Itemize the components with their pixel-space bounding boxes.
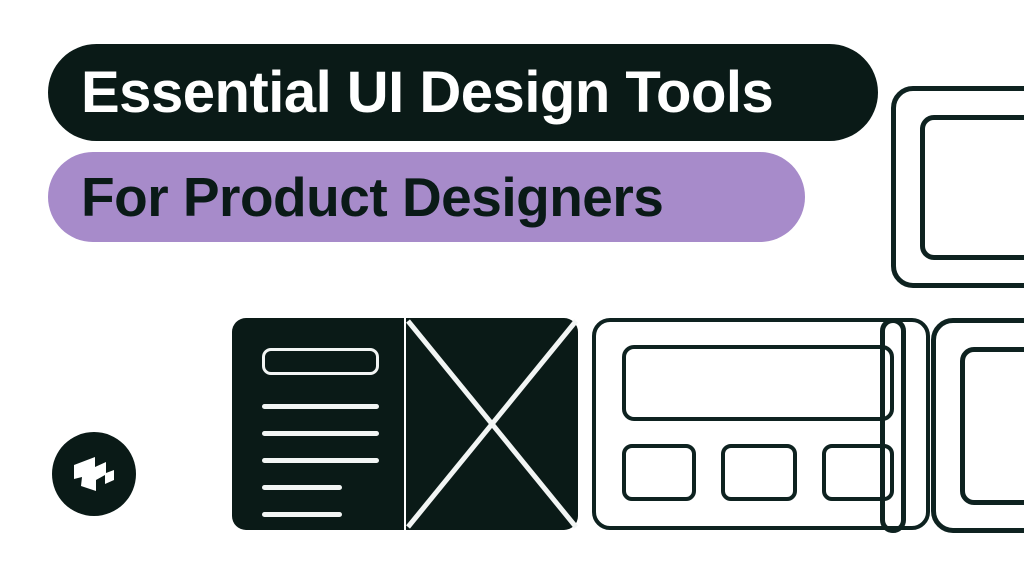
text-content-wireframe [232,318,404,530]
image-placeholder-cross-icon [406,318,578,530]
image-placeholder-wireframe [406,318,578,530]
page-subtitle: For Product Designers [81,170,663,225]
device-frame-bottom-edge [880,318,906,533]
text-line [262,485,342,490]
text-line [262,458,379,463]
brand-bolt-icon [71,453,117,495]
device-frame-top-inner [920,115,1024,260]
text-line [262,431,379,436]
brand-logo [52,432,136,516]
poster-canvas: Essential UI Design Tools For Product De… [0,0,1024,576]
page-title: Essential UI Design Tools [81,64,773,122]
device-frame-bottom-inner [960,347,1024,505]
chip-two [721,444,797,501]
input-field-outline [262,348,379,375]
text-line [262,404,379,409]
hero-block [622,345,894,421]
chip-one [622,444,696,501]
subtitle-pill: For Product Designers [48,152,805,242]
title-pill: Essential UI Design Tools [48,44,878,141]
text-line [262,512,342,517]
